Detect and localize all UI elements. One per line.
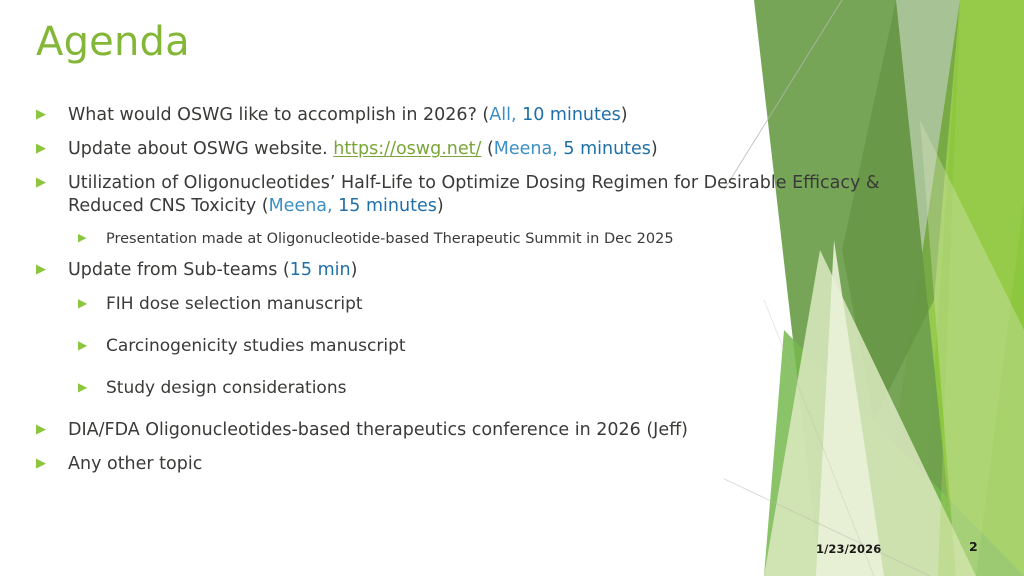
text-span: Presentation made at Oligonucleotide-bas… xyxy=(106,231,674,247)
slide-number: 2 xyxy=(969,539,978,554)
text-span: ) xyxy=(651,139,658,159)
text-span: Study design considerations xyxy=(106,378,346,398)
text-span: Any other topic xyxy=(68,454,202,474)
footer-date: 1/23/2026 xyxy=(816,542,881,556)
text-span: Meena, xyxy=(494,139,558,159)
bullet-triangle-icon: ▶ xyxy=(36,138,68,155)
bullet-triangle-icon: ▶ xyxy=(36,453,68,470)
bullet-item: ▶Update about OSWG website. https://oswg… xyxy=(36,138,896,161)
bullet-triangle-icon: ▶ xyxy=(78,229,106,243)
bullet-text: Any other topic xyxy=(68,453,896,476)
bullet-text: Utilization of Oligonucleotides’ Half-Li… xyxy=(68,172,896,218)
bullet-text: Update from Sub-teams (15 min) xyxy=(68,259,896,282)
text-span: ( xyxy=(481,139,493,159)
text-span: Meena, xyxy=(269,196,333,216)
agenda-bullet-list: ▶What would OSWG like to accomplish in 2… xyxy=(36,104,896,487)
bullet-item: ▶Any other topic xyxy=(36,453,896,476)
bullet-item: ▶What would OSWG like to accomplish in 2… xyxy=(36,104,896,127)
text-span: ) xyxy=(621,105,628,125)
text-span: 15 minutes xyxy=(338,196,437,216)
text-span: 15 min xyxy=(290,260,351,280)
bullet-item: ▶FIH dose selection manuscript xyxy=(78,293,896,316)
bullet-text: FIH dose selection manuscript xyxy=(106,293,896,316)
text-span: 10 minutes xyxy=(522,105,621,125)
text-span: ) xyxy=(437,196,444,216)
bullet-text: Study design considerations xyxy=(106,377,896,400)
bullet-item: ▶Carcinogenicity studies manuscript xyxy=(78,335,896,358)
text-span: DIA/FDA Oligonucleotides-based therapeut… xyxy=(68,420,688,440)
bullet-item: ▶DIA/FDA Oligonucleotides-based therapeu… xyxy=(36,419,896,442)
text-span: ) xyxy=(351,260,358,280)
text-span: Carcinogenicity studies manuscript xyxy=(106,336,406,356)
bullet-text: Update about OSWG website. https://oswg.… xyxy=(68,138,896,161)
bullet-item: ▶Utilization of Oligonucleotides’ Half-L… xyxy=(36,172,896,218)
bullet-triangle-icon: ▶ xyxy=(78,293,106,309)
bullet-text: Carcinogenicity studies manuscript xyxy=(106,335,896,358)
bullet-text: What would OSWG like to accomplish in 20… xyxy=(68,104,896,127)
text-span: 5 minutes xyxy=(563,139,651,159)
slide-canvas: Agenda ▶What would OSWG like to accompli… xyxy=(0,0,1024,576)
text-span: FIH dose selection manuscript xyxy=(106,294,363,314)
hyperlink-oswg[interactable]: https://oswg.net/ xyxy=(333,139,481,159)
text-span: Update about OSWG website. xyxy=(68,139,333,159)
bullet-text: Presentation made at Oligonucleotide-bas… xyxy=(106,229,896,249)
bullet-item: ▶Update from Sub-teams (15 min) xyxy=(36,259,896,282)
bullet-item: ▶Study design considerations xyxy=(78,377,896,400)
text-span: Update from Sub-teams ( xyxy=(68,260,290,280)
text-span: All, xyxy=(489,105,516,125)
bullet-item: ▶Presentation made at Oligonucleotide-ba… xyxy=(78,229,896,249)
bullet-triangle-icon: ▶ xyxy=(36,259,68,276)
slide-title: Agenda xyxy=(36,20,190,64)
bullet-triangle-icon: ▶ xyxy=(78,335,106,351)
bullet-triangle-icon: ▶ xyxy=(36,419,68,436)
bullet-triangle-icon: ▶ xyxy=(36,104,68,121)
bullet-triangle-icon: ▶ xyxy=(36,172,68,189)
bullet-text: DIA/FDA Oligonucleotides-based therapeut… xyxy=(68,419,896,442)
bullet-triangle-icon: ▶ xyxy=(78,377,106,393)
text-span: Utilization of Oligonucleotides’ Half-Li… xyxy=(68,173,880,216)
text-span: What would OSWG like to accomplish in 20… xyxy=(68,105,489,125)
